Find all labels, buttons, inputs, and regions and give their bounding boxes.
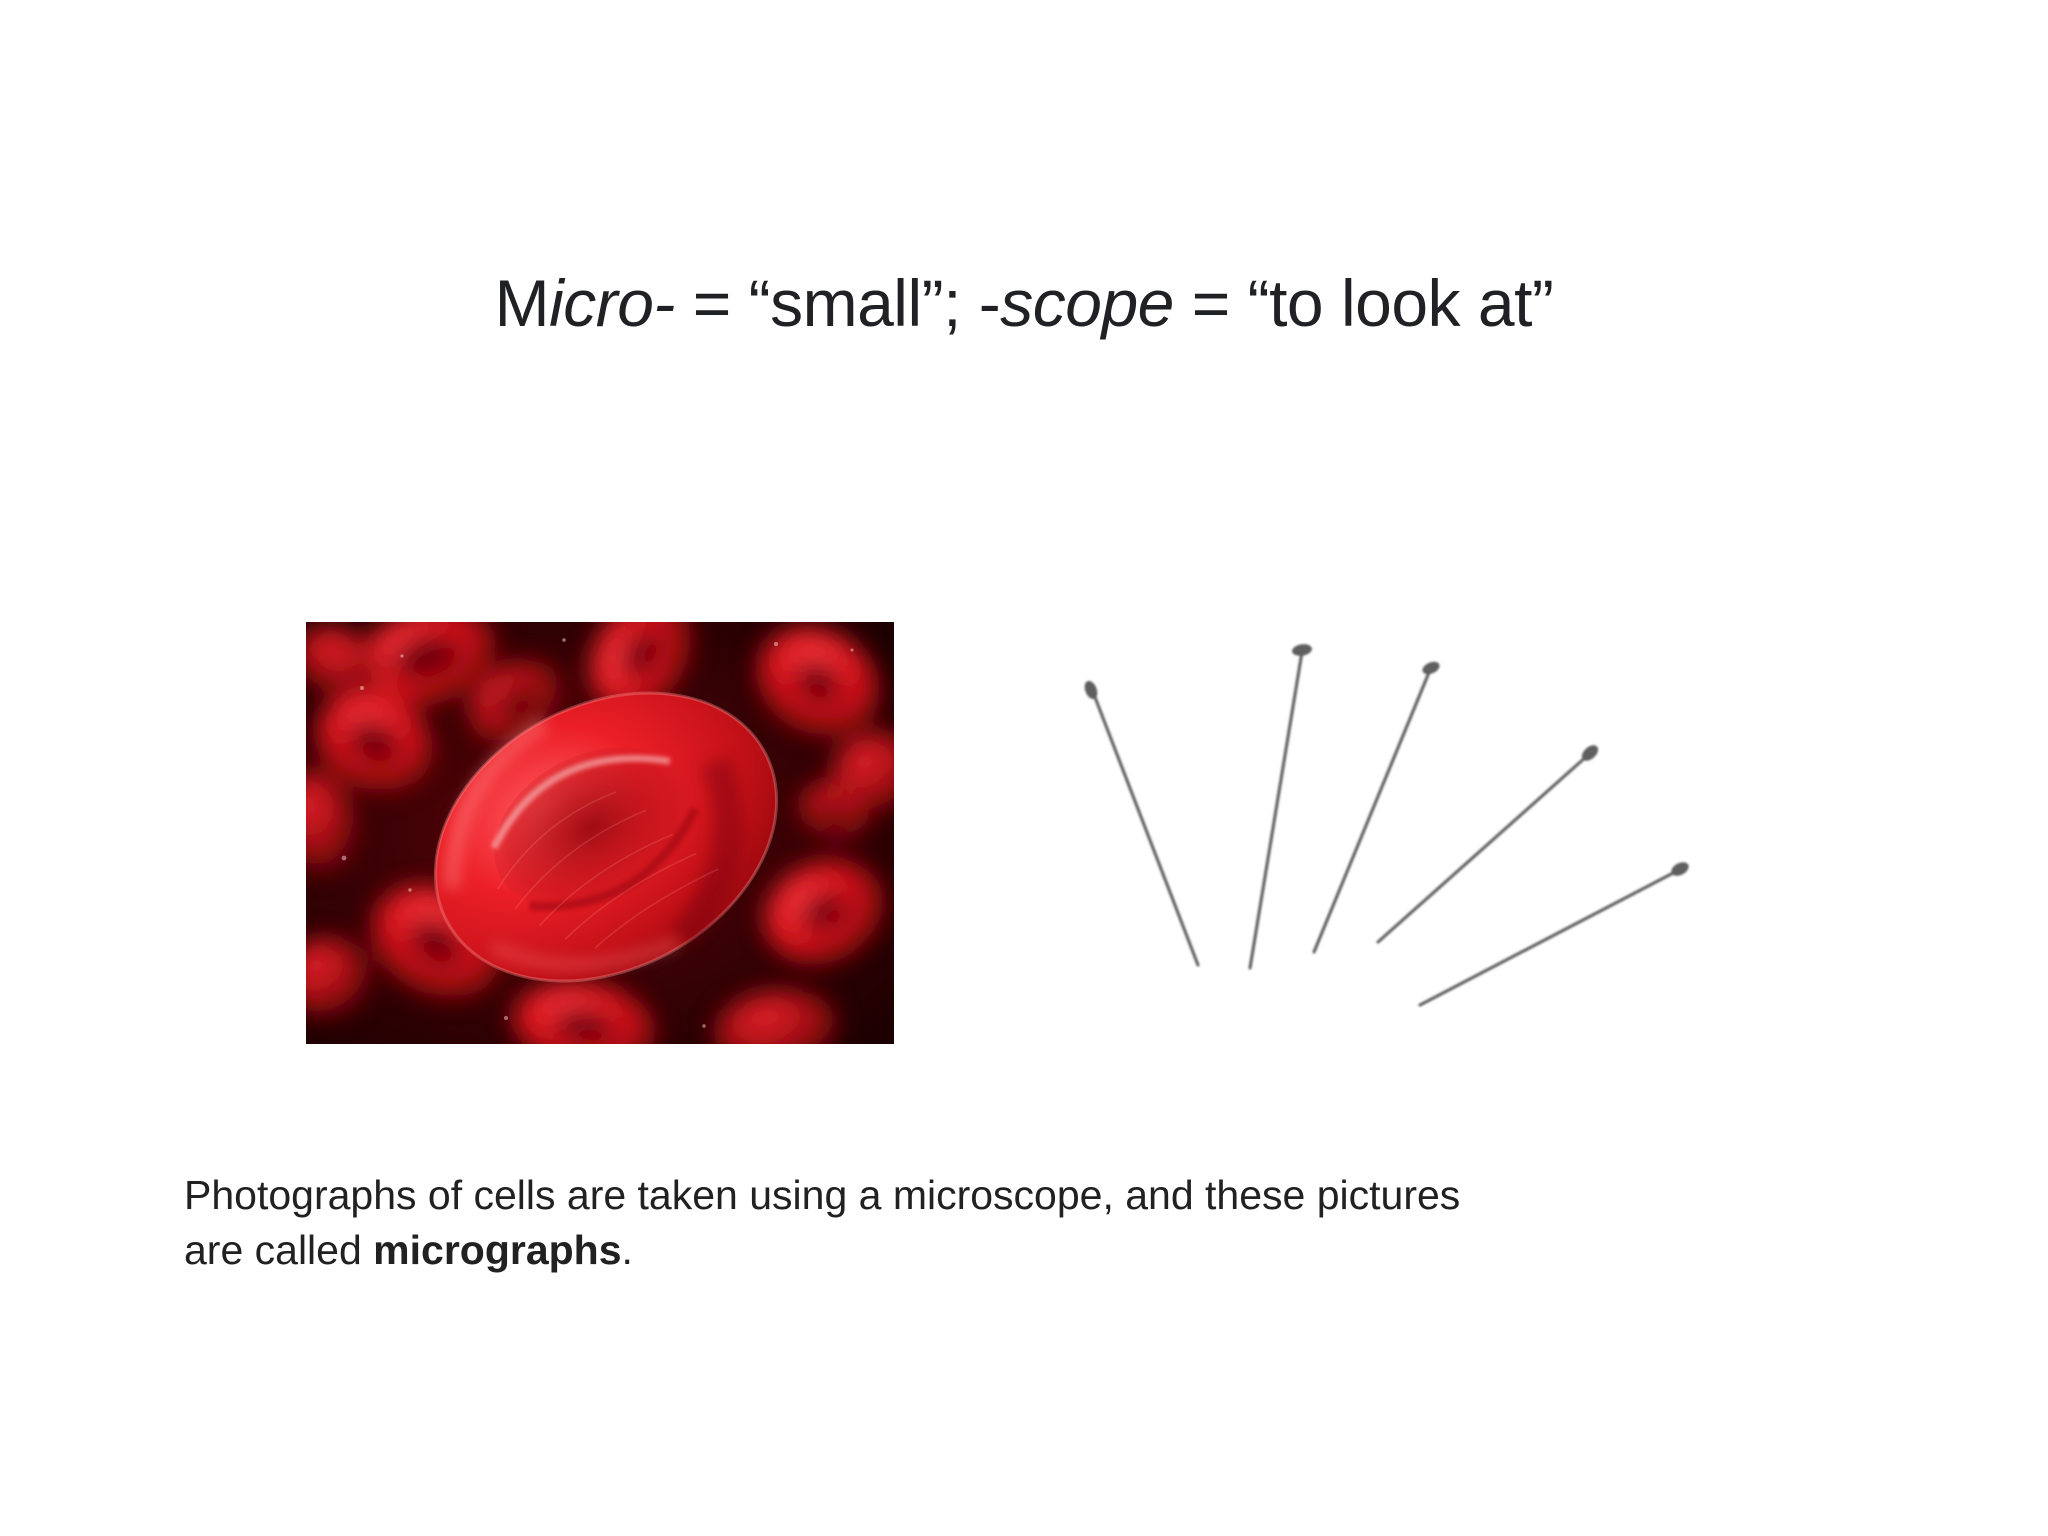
title-segment-italic-scope: scope (1000, 266, 1174, 340)
caption-keyword-micrographs: micrographs (373, 1227, 621, 1273)
title-segment-middle: = “small”; - (675, 266, 1000, 340)
page-title: Micro- = “small”; -scope = “to look at” (0, 268, 2048, 339)
caption-line-1: Photographs of cells are taken using a m… (184, 1172, 1460, 1218)
title-segment-italic-micro: icro- (549, 266, 675, 340)
slide-canvas: Micro- = “small”; -scope = “to look at” (0, 0, 2048, 1536)
straight-pins-photo (1060, 620, 1760, 1040)
title-segment-suffix: = “to look at” (1174, 266, 1554, 340)
caption-line-2-prefix: are called (184, 1227, 373, 1273)
red-blood-cells-micrograph (306, 622, 894, 1044)
caption-line-2-suffix: . (622, 1227, 633, 1273)
slide-caption: Photographs of cells are taken using a m… (184, 1168, 1884, 1277)
micrograph-image (306, 622, 894, 1044)
title-segment-prefix: M (495, 266, 549, 340)
